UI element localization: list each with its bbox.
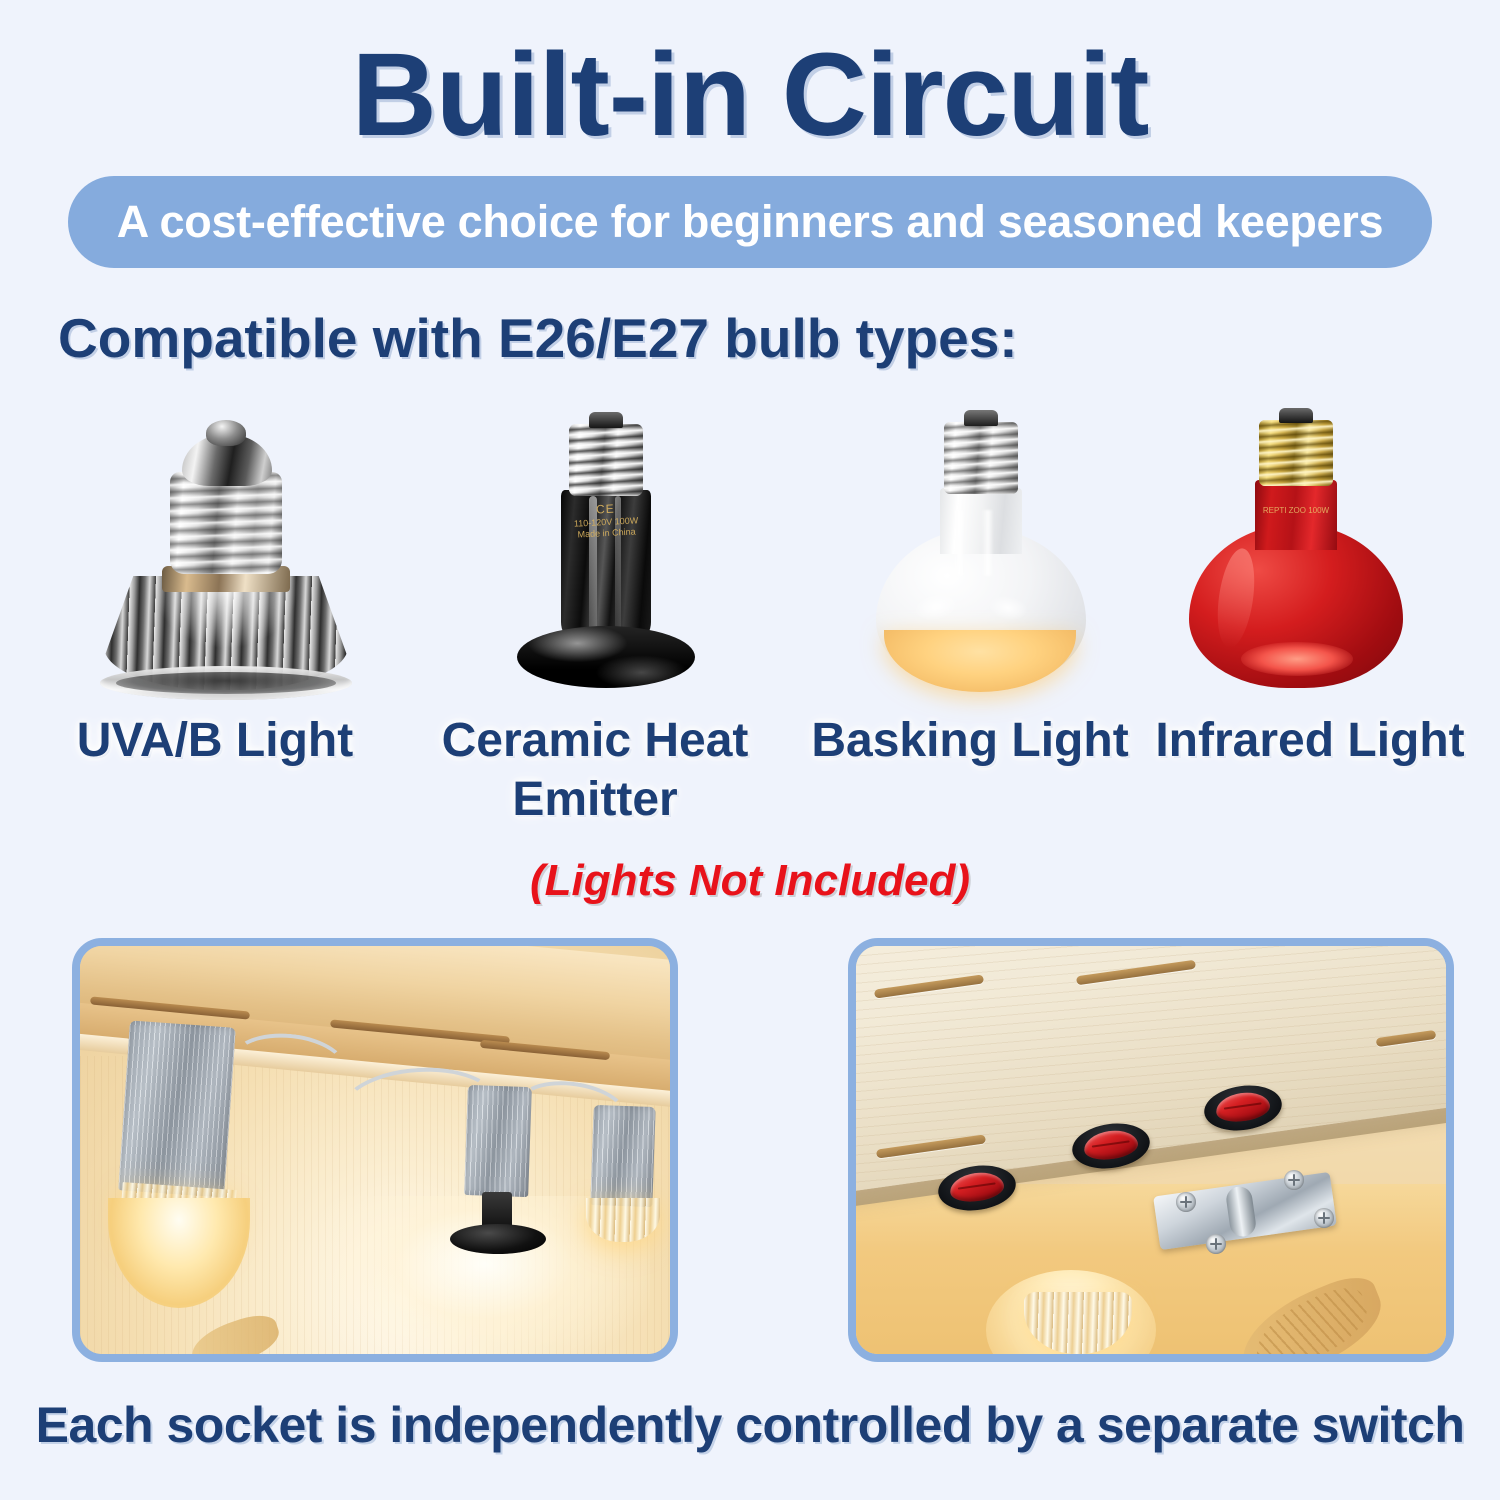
ceramic-markings: CE 110-120V 100W Made in China — [560, 500, 652, 542]
page-title: Built-in Circuit — [0, 36, 1500, 154]
basking-bulb-icon — [840, 398, 1140, 698]
infrared-contact-tip — [1279, 408, 1313, 423]
bulb-item-infrared: REPTI ZOO 100W — [1155, 398, 1455, 698]
uvab-screw-base — [170, 472, 282, 574]
ceramic-emitter-base — [450, 1224, 546, 1254]
hinge-screw — [1314, 1208, 1334, 1228]
footer-caption: Each socket is independently controlled … — [0, 1396, 1500, 1454]
subtitle-text: A cost-effective choice for beginners an… — [117, 196, 1383, 248]
basking-glow — [884, 630, 1076, 692]
infrared-bulb-icon: REPTI ZOO 100W — [1155, 398, 1455, 698]
basking-contact-tip — [964, 410, 998, 426]
subtitle-pill: A cost-effective choice for beginners an… — [68, 176, 1432, 268]
bulb-label-infrared: Infrared Light — [1140, 712, 1480, 771]
bulb-label-basking: Basking Light — [805, 712, 1135, 771]
rocker-switch-button[interactable] — [1082, 1127, 1139, 1162]
ceramic-contact-tip — [589, 412, 623, 428]
hinge-pin — [1225, 1185, 1258, 1238]
infrared-markings: REPTI ZOO 100W — [1255, 506, 1337, 517]
sockets-under-lid-photo — [72, 938, 678, 1362]
socket-ribs — [118, 1021, 236, 1198]
compatibility-heading: Compatible with E26/E27 bulb types: — [58, 306, 1018, 370]
rocker-switch-button[interactable] — [948, 1169, 1005, 1204]
hinge-screw — [1176, 1192, 1196, 1212]
bulb-labels: UVA/B Light Ceramic Heat Emitter Basking… — [0, 712, 1500, 862]
bulb-gallery: CE 110-120V 100W Made in China — [0, 398, 1500, 698]
bulb-label-uvab: UVA/B Light — [30, 712, 400, 771]
lights-not-included-note: (Lights Not Included) — [0, 856, 1500, 906]
bulb-item-basking — [840, 398, 1140, 698]
ceramic-screw-base — [569, 424, 643, 496]
infrared-glow — [1241, 642, 1353, 676]
bulb-item-ceramic: CE 110-120V 100W Made in China — [465, 398, 765, 698]
uvab-rim — [100, 666, 352, 700]
uvab-reflector-bulb-icon — [90, 398, 390, 698]
sockets-photo-art — [80, 946, 670, 1354]
rocker-switch-button[interactable] — [1214, 1089, 1271, 1124]
hinge-screw — [1284, 1170, 1304, 1190]
switches-photo-art — [856, 946, 1446, 1354]
basking-screw-base — [944, 422, 1018, 494]
bulb-label-ceramic: Ceramic Heat Emitter — [405, 712, 785, 829]
socket-cup — [118, 1021, 236, 1198]
ceramic-heat-emitter-icon: CE 110-120V 100W Made in China — [465, 398, 765, 698]
uvab-contact-tip — [206, 420, 246, 446]
hinge-screw — [1206, 1234, 1226, 1254]
infrared-screw-base — [1259, 420, 1333, 486]
bulb-item-uvab — [90, 398, 390, 698]
rocker-switches-photo — [848, 938, 1454, 1362]
infographic-page: Built-in Circuit A cost-effective choice… — [0, 0, 1500, 1500]
basking-filament — [952, 510, 1010, 576]
ceramic-base-disc — [517, 626, 695, 688]
